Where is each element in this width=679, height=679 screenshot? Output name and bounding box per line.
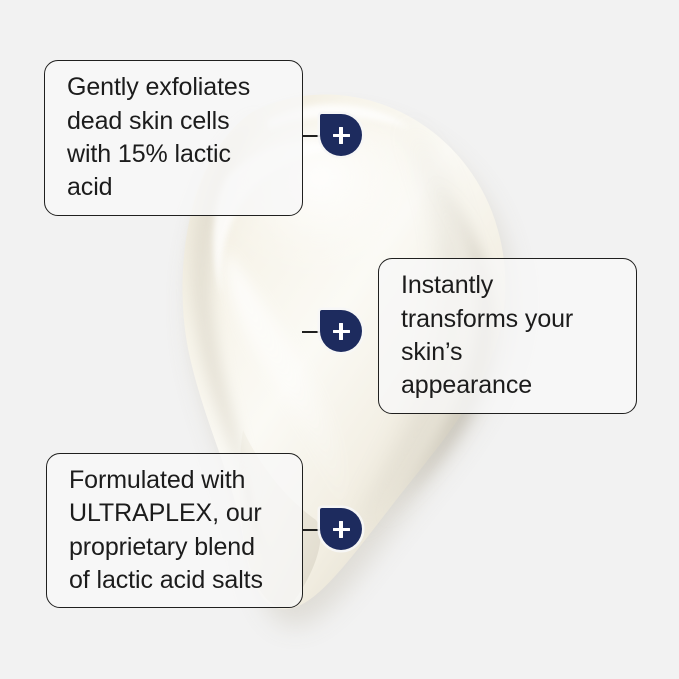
callout-box-3[interactable]: Formulated with ULTRAPLEX, our proprieta… bbox=[46, 453, 303, 608]
callout-text-1: Gently exfoliates dead skin cells with 1… bbox=[67, 71, 250, 205]
plus-glyph-2 bbox=[320, 310, 362, 352]
plus-glyph-1 bbox=[320, 114, 362, 156]
product-feature-callout-graphic: Gently exfoliates dead skin cells with 1… bbox=[0, 0, 679, 679]
callout-box-1[interactable]: Gently exfoliates dead skin cells with 1… bbox=[44, 60, 303, 216]
callout-text-3: Formulated with ULTRAPLEX, our proprieta… bbox=[69, 464, 302, 598]
plus-icon-3[interactable] bbox=[320, 508, 362, 550]
plus-glyph-3 bbox=[320, 508, 362, 550]
plus-icon-1[interactable] bbox=[320, 114, 362, 156]
callout-box-2[interactable]: Instantly transforms your skin’s appeara… bbox=[378, 258, 637, 414]
plus-icon-2[interactable] bbox=[320, 310, 362, 352]
callout-text-2: Instantly transforms your skin’s appeara… bbox=[401, 269, 573, 403]
